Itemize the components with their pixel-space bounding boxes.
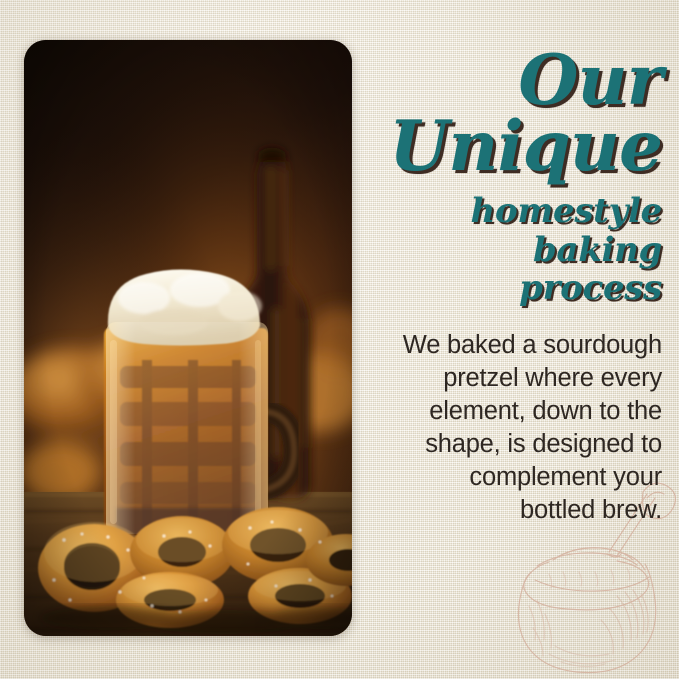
copy-block: Our Unique homestyle baking process We b… (366, 48, 662, 528)
body-paragraph: We baked a sourdough pretzel where every… (366, 329, 662, 528)
page-title: Our Unique (366, 48, 662, 180)
subtitle: homestyle baking process (366, 192, 662, 306)
body-line-4: shape, is designed to (366, 428, 662, 461)
body-line-5: complement your (366, 461, 662, 494)
body-line-2: pretzel where every (366, 362, 662, 395)
body-line-6: bottled brew. (366, 494, 662, 527)
photo-illustration (24, 40, 352, 636)
body-line-3: element, down to the (366, 395, 662, 428)
subhead-line-3: process (366, 269, 662, 307)
subhead-line-1: homestyle (366, 192, 662, 230)
headline-line-2: Unique (366, 114, 662, 180)
poster-canvas: Our Unique homestyle baking process We b… (0, 0, 679, 679)
body-line-1: We baked a sourdough (366, 329, 662, 362)
product-photo (24, 40, 352, 636)
subhead-line-2: baking (366, 231, 662, 269)
